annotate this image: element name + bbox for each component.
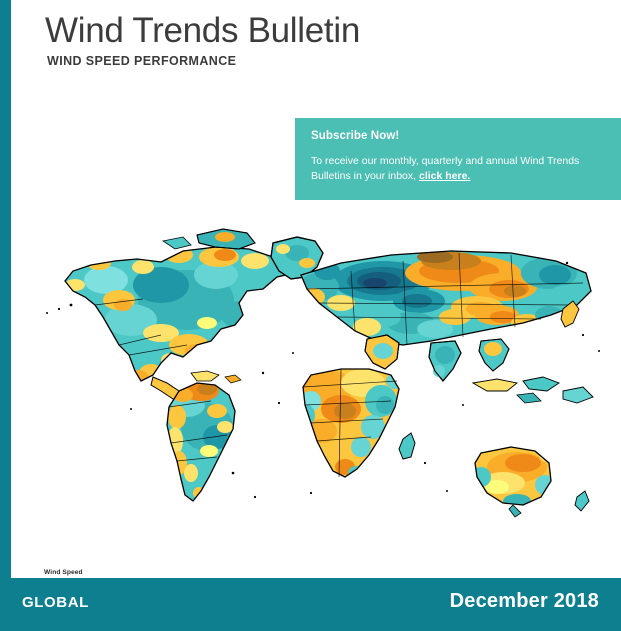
- footer-period-label: December 2018: [450, 590, 599, 613]
- bulletin-page: Wind Trends Bulletin WIND SPEED PERFORMA…: [0, 0, 621, 631]
- continent-eurasia: [296, 245, 606, 355]
- page-footer: GLOBAL December 2018: [0, 578, 621, 631]
- left-accent-bar: [0, 0, 11, 631]
- subscribe-callout[interactable]: Subscribe Now! To receive our monthly, q…: [295, 118, 621, 200]
- footer-region-label: GLOBAL: [22, 594, 89, 611]
- region-india: [429, 341, 461, 381]
- continent-africa: [296, 360, 415, 490]
- world-map-svg: [11, 205, 621, 575]
- continent-australia: [471, 443, 589, 517]
- page-title: Wind Trends Bulletin: [45, 11, 360, 51]
- page-subtitle: WIND SPEED PERFORMANCE: [47, 54, 236, 68]
- region-southeast-asia: [473, 339, 593, 403]
- region-arabia: [365, 335, 399, 369]
- subscribe-click-here-link[interactable]: click here.: [419, 170, 470, 182]
- legend-title-line1: Wind Speed: [44, 568, 116, 578]
- page-header: Wind Trends Bulletin WIND SPEED PERFORMA…: [11, 0, 621, 105]
- subscribe-body: To receive our monthly, quarterly and an…: [311, 154, 607, 184]
- world-anomaly-map: Wind Speed Anomaly (%) > +21+18 / +21+15…: [11, 205, 621, 575]
- subscribe-heading: Subscribe Now!: [311, 130, 607, 142]
- region-arctic-islands: [163, 229, 255, 249]
